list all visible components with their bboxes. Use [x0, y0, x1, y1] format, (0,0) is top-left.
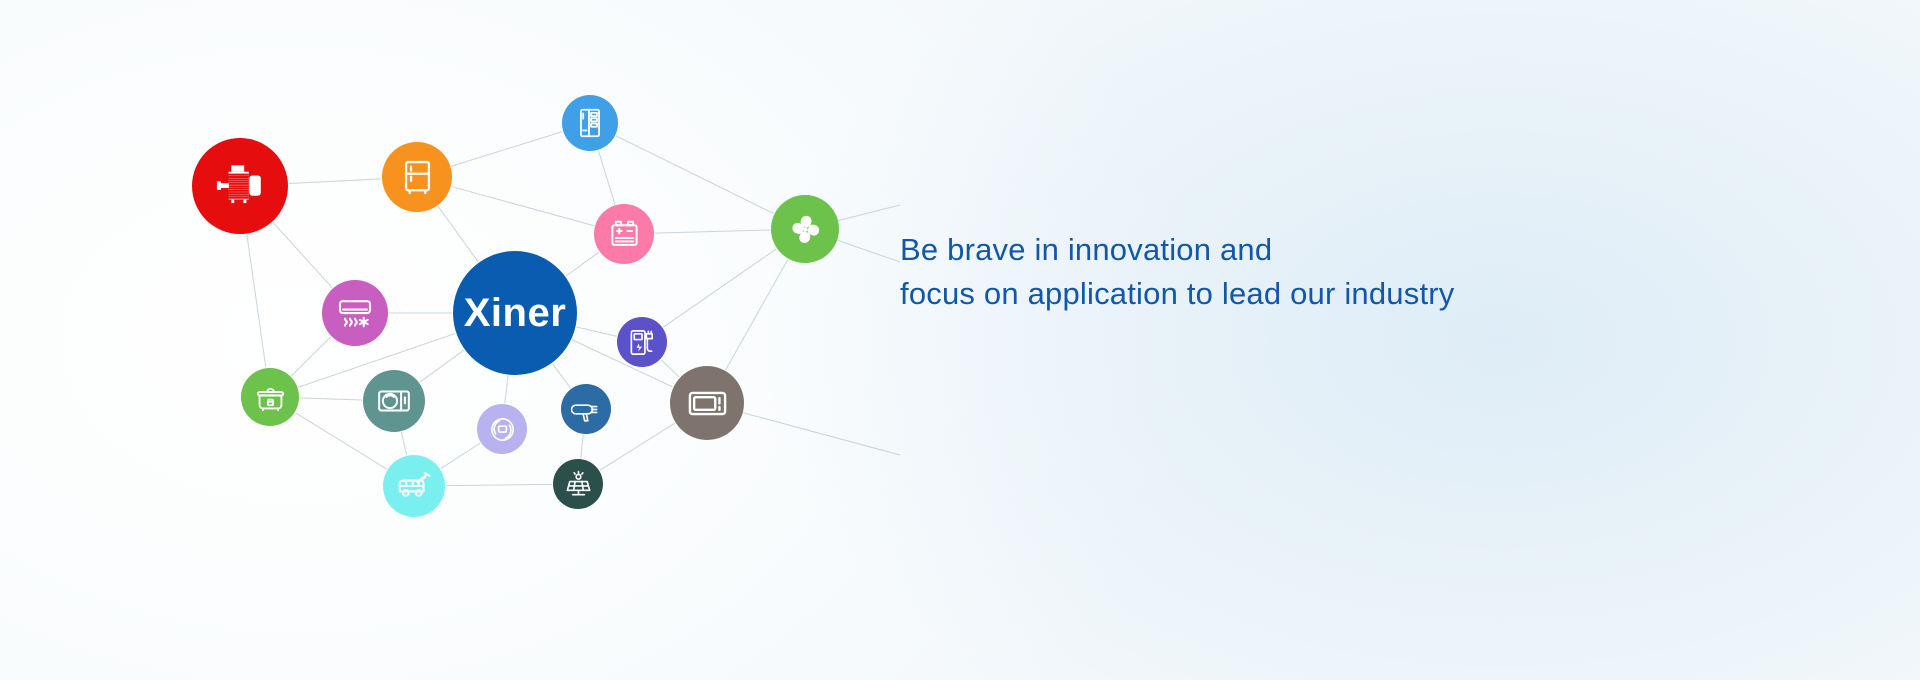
tagline-line-1: Be brave in innovation and: [900, 228, 1800, 272]
edge-rice-cooker-to-washing-machine: [300, 398, 362, 400]
washing-machine-icon: [375, 382, 413, 420]
rice-cooker-icon: [253, 380, 288, 415]
refrigerator-icon: [396, 156, 439, 199]
edge-motor-to-refrigerator: [289, 179, 381, 184]
node-battery[interactable]: [594, 204, 654, 264]
node-induction-cooker[interactable]: [477, 404, 527, 454]
edge-refrigerator-to-battery: [452, 187, 594, 226]
edge-washing-machine-to-hub: [420, 350, 464, 382]
edge-blower-fan-to-ev-charger: [663, 249, 776, 327]
hero-banner: Xiner Be brave in innovation and focus o…: [0, 0, 1920, 680]
node-electric-motor[interactable]: [192, 138, 288, 234]
edge-display-freezer-to-battery: [598, 151, 614, 205]
edge-battery-to-hub: [566, 252, 599, 276]
edge-refrigerator-to-display-freezer: [451, 132, 562, 167]
display-freezer-icon: [573, 106, 607, 140]
edge-induction-cooker-to-trolley-bus: [441, 443, 480, 468]
edge-refrigerator-to-hub: [438, 206, 478, 262]
edge-air-conditioner-to-rice-cooker: [291, 337, 330, 376]
network-edges: [0, 0, 900, 680]
brand-name: Xiner: [464, 293, 567, 333]
edge-display-freezer-to-blower-fan: [616, 136, 774, 214]
air-conditioner-icon: [335, 293, 375, 333]
tagline: Be brave in innovation and focus on appl…: [900, 228, 1800, 316]
edge-motor-to-air-conditioner: [273, 222, 332, 287]
edge-hub-to-induction-cooker: [505, 376, 508, 404]
edge-trolley-bus-to-solar-panel: [446, 484, 552, 485]
edge-hair-dryer-to-solar-panel: [581, 435, 583, 458]
node-ev-charger[interactable]: [617, 317, 667, 367]
edge-blower-fan-to-microwave: [726, 259, 788, 369]
solar-panel-icon: [563, 469, 594, 500]
node-display-freezer[interactable]: [562, 95, 618, 151]
hair-dryer-icon: [571, 394, 602, 425]
electric-motor-icon: [211, 157, 270, 216]
blower-fan-icon: [785, 209, 826, 250]
ev-charger-icon: [627, 327, 658, 358]
node-rice-cooker[interactable]: [241, 368, 299, 426]
microwave-oven-icon: [685, 381, 730, 426]
trolley-bus-icon: [395, 467, 433, 505]
brand-hub-node[interactable]: Xiner: [453, 251, 577, 375]
node-refrigerator[interactable]: [382, 142, 452, 212]
node-washing-machine[interactable]: [363, 370, 425, 432]
node-hair-dryer[interactable]: [561, 384, 611, 434]
tagline-line-2: focus on application to lead our industr…: [900, 272, 1800, 316]
edge-battery-to-blower-fan: [655, 230, 770, 233]
node-solar-panel[interactable]: [553, 459, 603, 509]
node-microwave-oven[interactable]: [670, 366, 744, 440]
edge-microwave-to-solar-panel: [600, 423, 675, 470]
edge-hub-to-hair-dryer: [552, 364, 570, 388]
battery-icon: [606, 216, 643, 253]
node-blower-fan[interactable]: [771, 195, 839, 263]
edge-washing-machine-to-trolley-bus: [401, 432, 406, 455]
node-trolley-bus[interactable]: [383, 455, 445, 517]
induction-cooker-icon: [487, 414, 518, 445]
product-network-diagram: Xiner: [0, 0, 900, 680]
edge-ev-charger-to-microwave: [661, 360, 679, 377]
edge-motor-to-rice-cooker: [247, 235, 266, 368]
edge-hub-to-ev-charger: [576, 327, 616, 336]
node-air-conditioner[interactable]: [322, 280, 388, 346]
